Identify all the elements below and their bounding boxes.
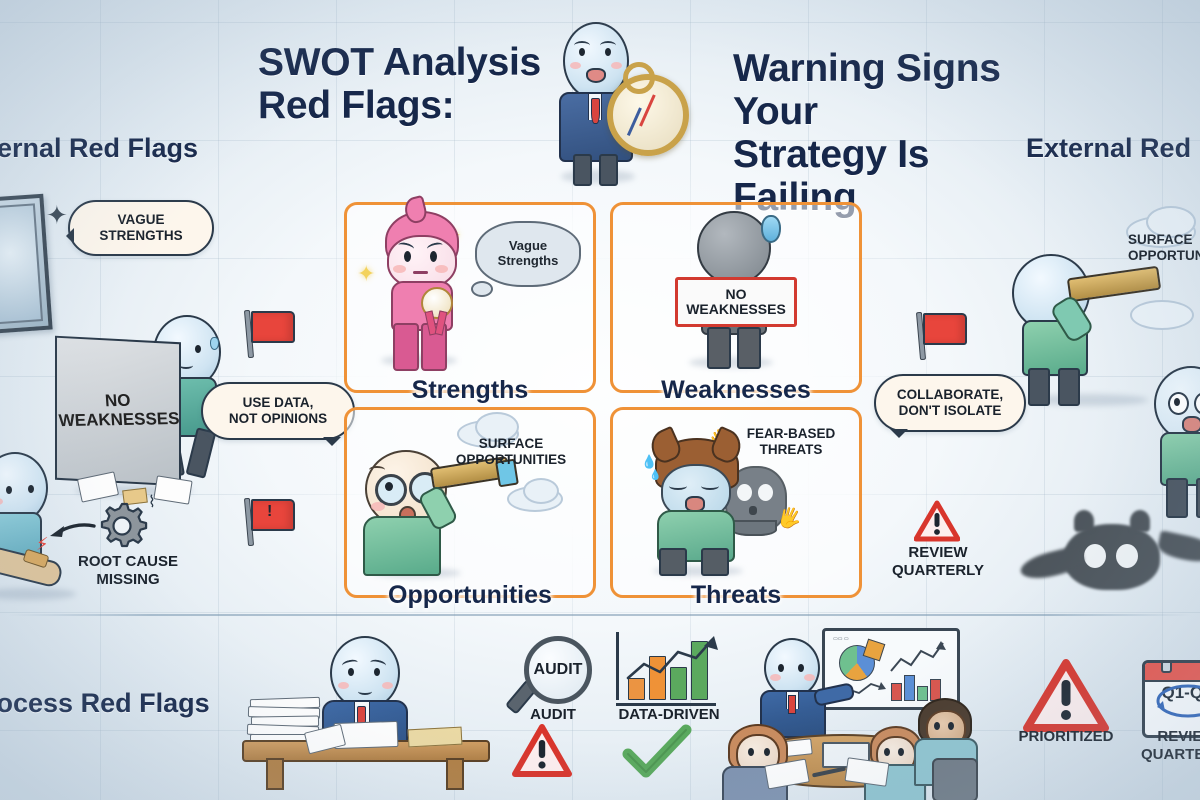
fear-based-threats-label: FEAR-BASED THREATS [729, 426, 853, 458]
warning-triangle-icon-bottom [512, 724, 572, 778]
title-left: SWOT Analysis Red Flags: [258, 42, 558, 128]
data-driven-label: DATA-DRIVEN [600, 706, 738, 724]
use-data-bubble: USE DATA, NOT OPINIONS [201, 382, 355, 440]
calendar-icon: Q1-Q4 [1142, 660, 1200, 738]
prioritized-label: PRIORITIZED [1010, 728, 1122, 746]
swot-label-opportunities: Opportunities [347, 581, 593, 610]
bubble-tail [890, 429, 908, 447]
monster-shadow-icon [1020, 506, 1200, 596]
audit-lens-text: AUDIT [524, 636, 592, 704]
vague-strengths-bubble: VAGUE STRENGTHS [68, 200, 214, 256]
swot-quadrant-strengths[interactable]: ✦ ✦ ✦ [344, 202, 596, 393]
infographic-canvas: SWOT Analysis Red Flags: Warning Signs Y… [0, 0, 1200, 800]
review-quarterly-caption: REVIEW QUARTERLY [882, 544, 994, 580]
bar-chart-up-arrow-icon [616, 632, 718, 706]
framed-portrait-icon [0, 194, 53, 335]
bubble-tail [323, 437, 341, 455]
swot-matrix: ✦ ✦ ✦ [344, 202, 856, 592]
process-divider [8, 614, 1192, 616]
title-right-line1: Warning Signs Your [733, 48, 1033, 134]
review-quarterly-bottom-label: REVIEW QUARTERLY [1122, 728, 1200, 764]
warning-triangle-icon-right [914, 500, 960, 542]
left-arrow-icon [48, 520, 96, 547]
section-label-internal: Internal Red Flags [0, 133, 198, 164]
title-right: Warning Signs Your Strategy Is Failing [733, 48, 1033, 220]
team-meeting-with-charts-icon: ▭▭ ▭ [722, 628, 974, 798]
section-label-process: Process Red Flags [0, 688, 210, 719]
gear-spark-icon: ⌇ [148, 492, 156, 512]
swot-quadrant-threats[interactable]: 🖐 🖐 💧 💧 FEAR-BASED THREATS Threa [610, 407, 862, 598]
swot-label-strengths: Strengths [347, 376, 593, 405]
title-mascot-icon [543, 18, 663, 188]
section-label-external: External Red Flags [1026, 133, 1200, 164]
decor-star-icon: ✦ [46, 200, 68, 231]
green-checkmark-icon [622, 724, 692, 785]
collaborate-bubble: COLLABORATE, DON'T ISOLATE [874, 374, 1026, 432]
bubble-tail [58, 228, 74, 244]
no-weaknesses-sign: NO WEAKNESSES [675, 277, 797, 327]
title-left-line2: Red Flags: [258, 85, 558, 128]
title-left-line1: SWOT Analysis [258, 42, 558, 85]
swot-quadrant-weaknesses[interactable]: NO WEAKNESSES Weaknesses [610, 202, 862, 393]
audit-label: AUDIT [498, 706, 608, 724]
swot-quadrant-opportunities[interactable]: SURFACE OPPORTUNITIES Opportunities [344, 407, 596, 598]
magnifying-glass-icon: AUDIT [508, 634, 590, 712]
gear-icon [96, 500, 148, 552]
root-cause-caption: ROOT CAUSE MISSING [63, 553, 193, 589]
surface-opportunities-right-label: SURFACE OPPORTUNITIES [1128, 232, 1200, 264]
swot-label-threats: Threats [613, 581, 859, 610]
vague-strengths-cloud-bubble: Vague Strengths [475, 221, 581, 287]
overworked-character-at-desk-icon [246, 636, 486, 786]
warning-triangle-icon-prioritized [1022, 658, 1110, 734]
swot-label-weaknesses: Weaknesses [613, 376, 859, 405]
surface-opportunities-label: SURFACE OPPORTUNITIES [443, 436, 579, 468]
